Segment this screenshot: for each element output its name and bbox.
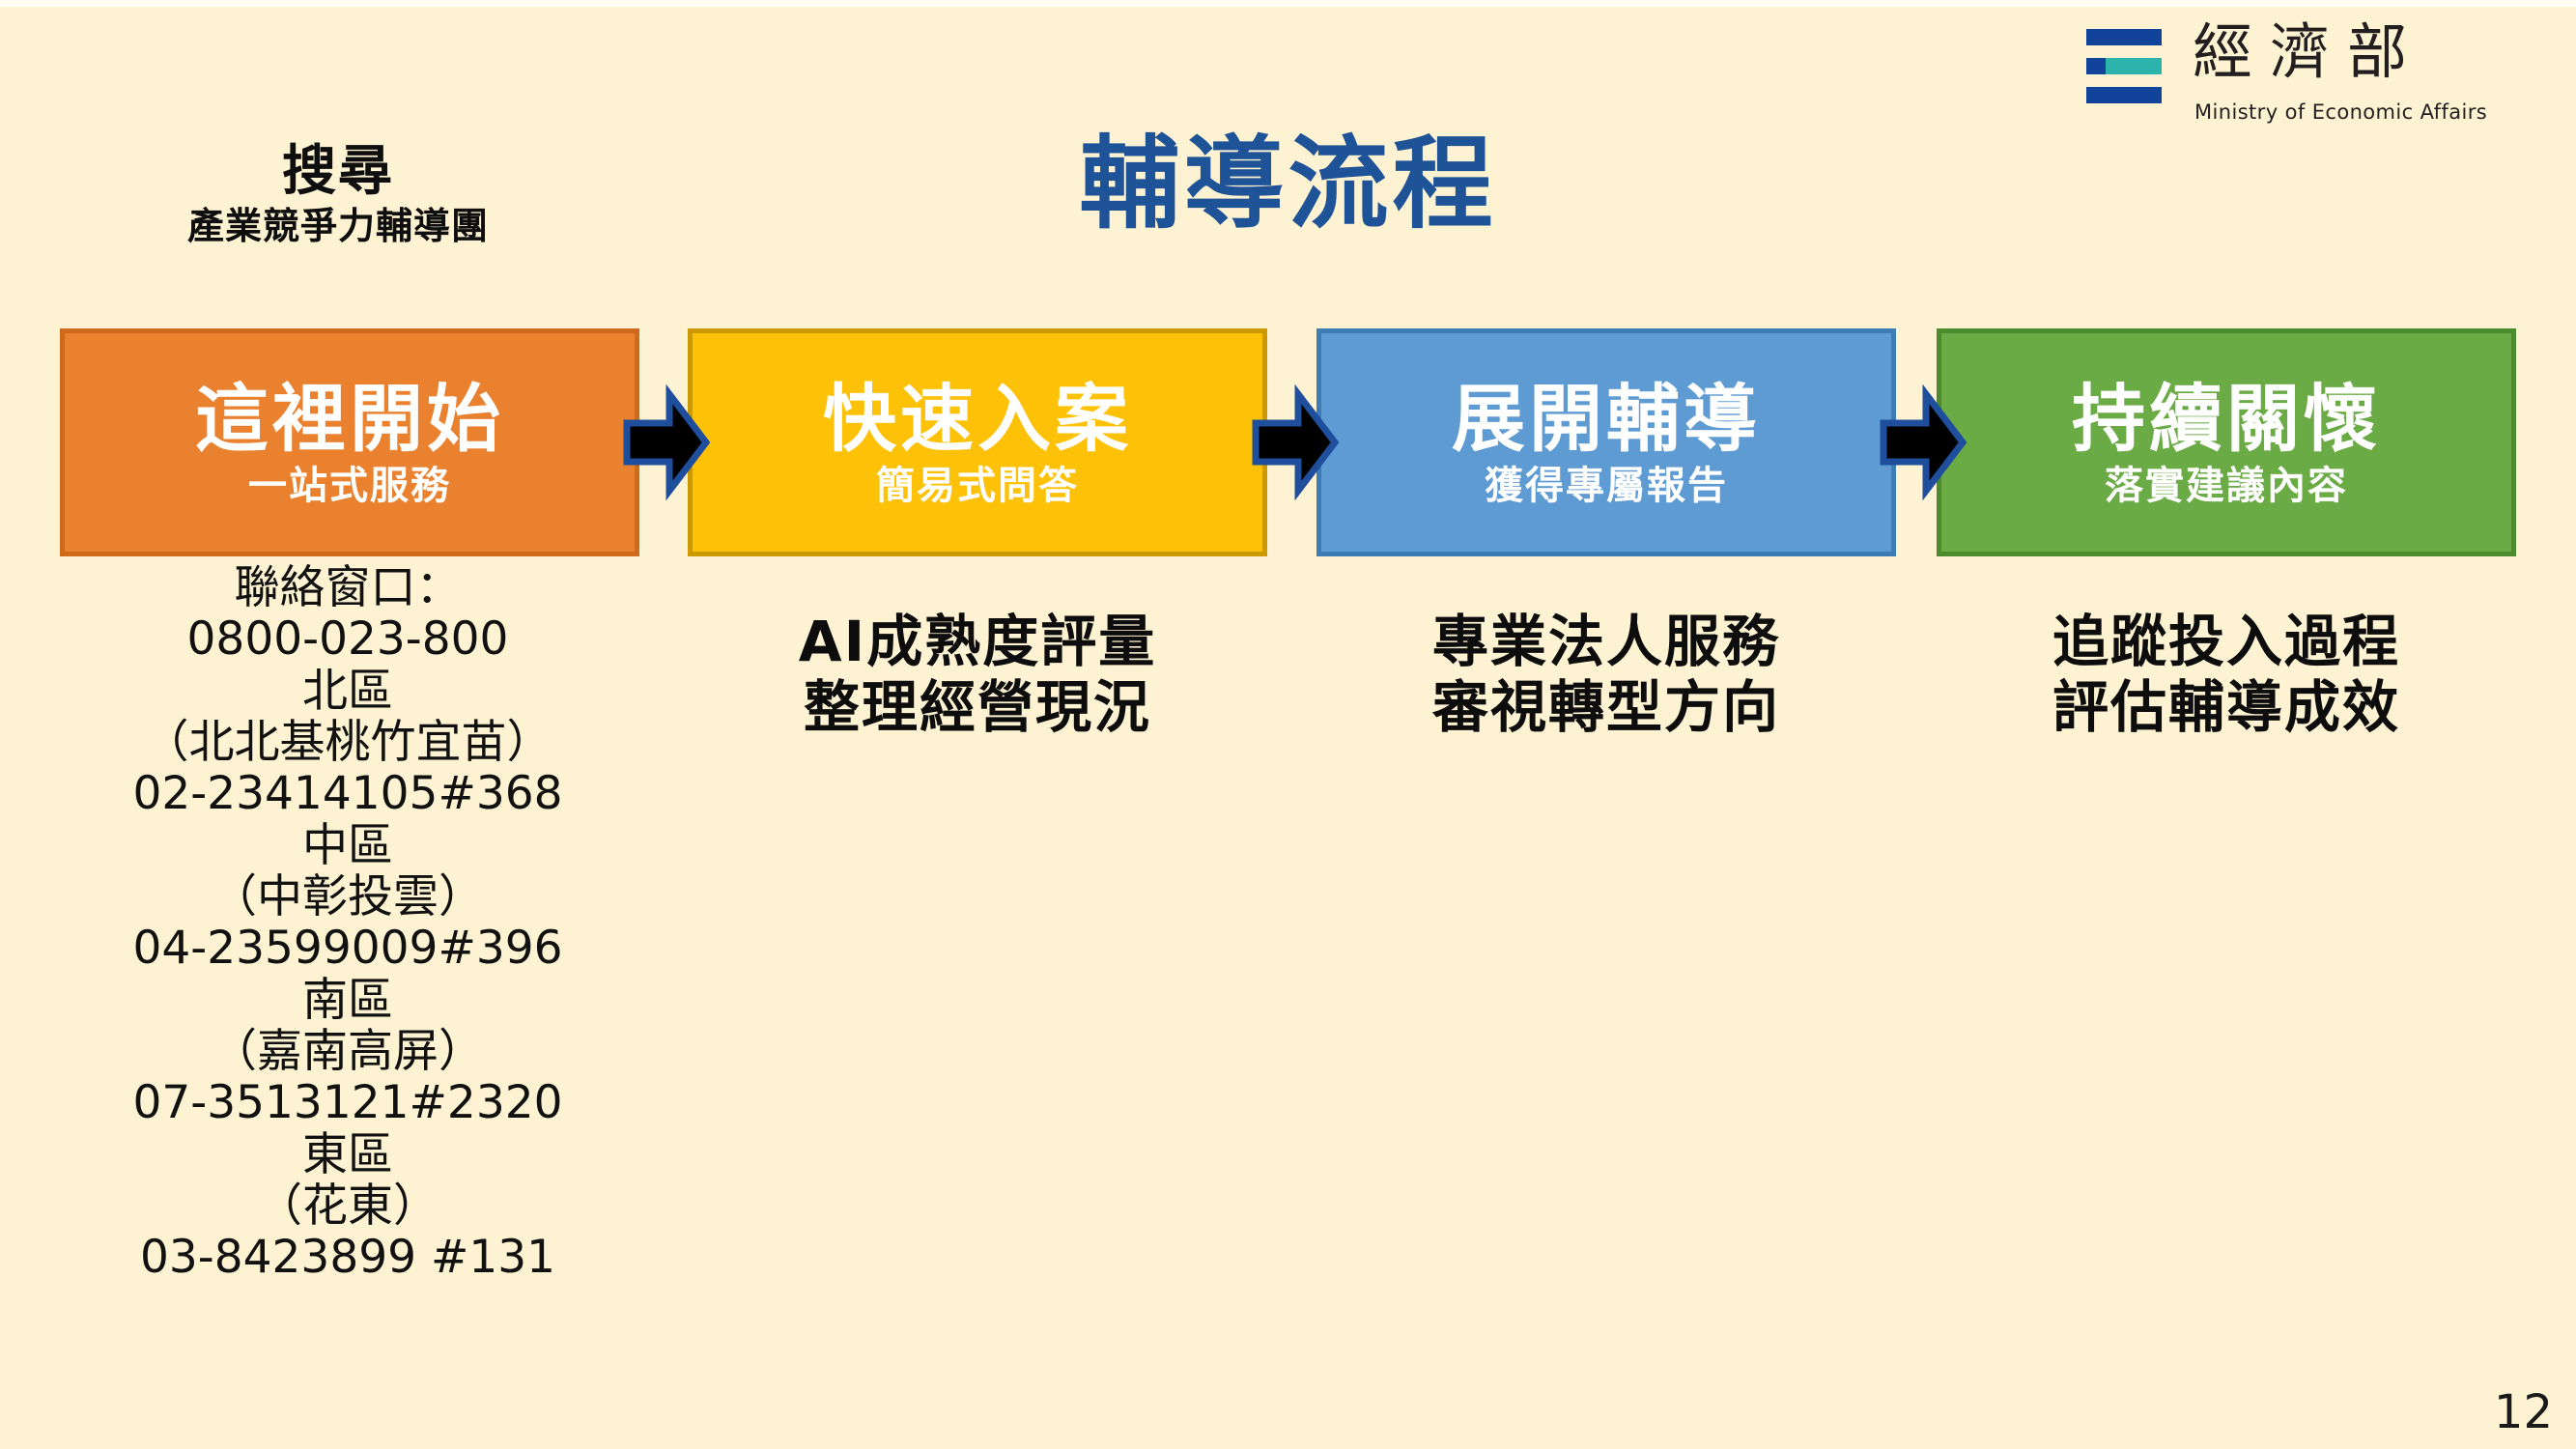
contact-line: 東區 <box>53 1129 642 1180</box>
flow-step-subtitle: 簡易式問答 <box>876 465 1079 507</box>
flow-step-followup[interactable]: 持續關懷 落實建議內容 <box>1937 328 2516 556</box>
contact-line: （嘉南高屏） <box>53 1026 642 1077</box>
logo-chinese-name: 經濟部 <box>2193 17 2424 86</box>
logo-bar-middle <box>2086 58 2162 74</box>
contact-line: 北區 <box>53 666 642 717</box>
arrow-right-icon <box>1880 384 1967 500</box>
caption-line: 整理經營現況 <box>668 674 1287 740</box>
flow-step-guidance[interactable]: 展開輔導 獲得專屬報告 <box>1316 328 1896 556</box>
flow-step-intake[interactable]: 快速入案 簡易式問答 <box>688 328 1267 556</box>
flow-step-caption-followup: 追蹤投入過程 評估輔導成效 <box>1917 609 2535 741</box>
contact-line: 中區 <box>53 820 642 871</box>
flow-step-title: 持續關懷 <box>2072 378 2381 460</box>
contact-line: （北北基桃竹宜苗） <box>53 717 642 768</box>
contact-line: 0800-023-800 <box>53 613 642 665</box>
contact-line: 07-3513121#2320 <box>53 1077 642 1128</box>
flow-step-start[interactable]: 這裡開始 一站式服務 <box>60 328 639 556</box>
logo-bar-bottom <box>2086 87 2162 103</box>
page-title: 輔導流程 <box>0 128 2576 240</box>
ministry-logo: 經濟部 Ministry of Economic Affairs <box>2086 17 2550 124</box>
flow-step-subtitle: 獲得專屬報告 <box>1485 465 1728 507</box>
contact-line: （中彰投雲） <box>53 871 642 923</box>
page-number: 12 <box>2494 1385 2553 1439</box>
contact-line: 04-23599009#396 <box>53 923 642 974</box>
caption-line: AI成熟度評量 <box>668 609 1287 674</box>
contact-line: 聯絡窗口： <box>53 562 642 613</box>
flow-step-title: 這裡開始 <box>195 378 504 460</box>
caption-line: 審視轉型方向 <box>1297 674 1915 740</box>
slide-canvas: 經濟部 Ministry of Economic Affairs 搜尋 產業競爭… <box>0 0 2576 1449</box>
flow-step-caption-guidance: 專業法人服務 審視轉型方向 <box>1297 609 1915 741</box>
contact-line: 02-23414105#368 <box>53 768 642 819</box>
flow-step-title: 快速入案 <box>823 378 1132 460</box>
flow-step-subtitle: 一站式服務 <box>248 465 451 507</box>
caption-line: 專業法人服務 <box>1297 609 1915 674</box>
arrow-right-icon <box>623 384 710 500</box>
logo-bar-top <box>2086 29 2162 45</box>
logo-bars-icon <box>2086 29 2162 104</box>
logo-bar-middle-accent <box>2106 58 2162 74</box>
flow-step-subtitle: 落實建議內容 <box>2105 465 2348 507</box>
caption-line: 評估輔導成效 <box>1917 674 2535 740</box>
logo-english-name: Ministry of Economic Affairs <box>2194 100 2487 124</box>
flow-step-title: 展開輔導 <box>1452 378 1761 460</box>
caption-line: 追蹤投入過程 <box>1917 609 2535 674</box>
flow-step-caption-intake: AI成熟度評量 整理經營現況 <box>668 609 1287 741</box>
contact-info-list: 聯絡窗口： 0800-023-800 北區 （北北基桃竹宜苗） 02-23414… <box>53 562 642 1284</box>
contact-line: 03-8423899 #131 <box>53 1232 642 1283</box>
contact-line: （花東） <box>53 1180 642 1232</box>
arrow-right-icon <box>1252 384 1339 500</box>
contact-line: 南區 <box>53 975 642 1026</box>
top-strip <box>0 0 2576 7</box>
